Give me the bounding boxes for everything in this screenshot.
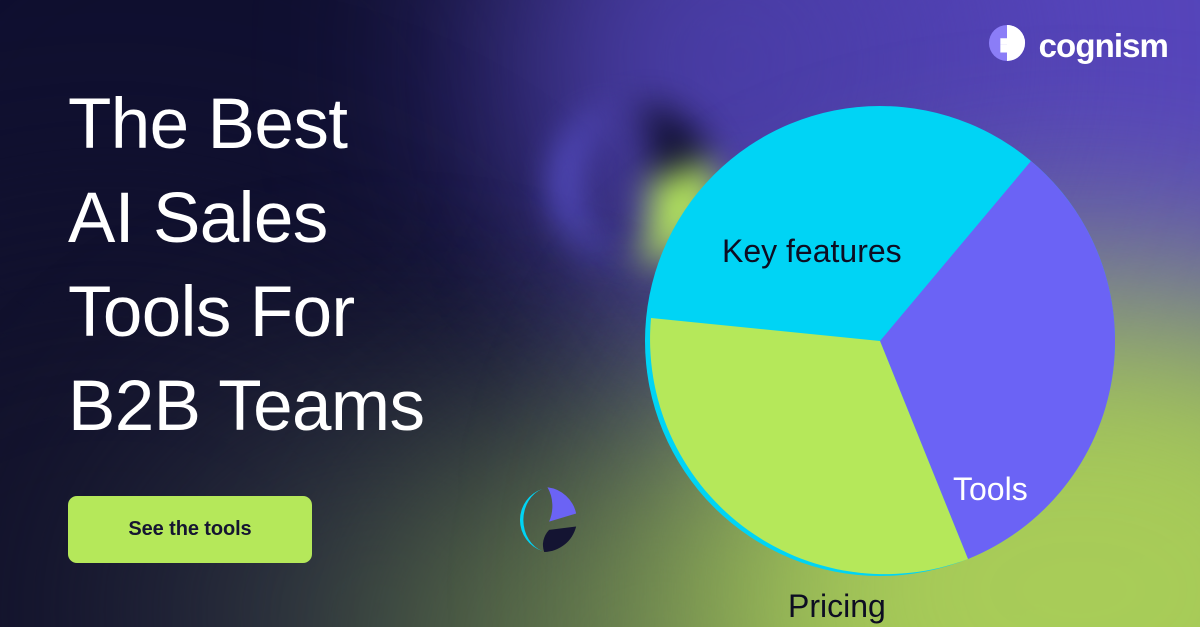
page-title: The Best AI Sales Tools For B2B Teams: [68, 78, 588, 454]
cognism-circle-mark-icon: [988, 24, 1026, 67]
see-the-tools-button[interactable]: See the tools: [68, 496, 312, 563]
pie-chart: Key features Tools Pricing: [645, 106, 1115, 576]
social-card: Key features Tools Pricing The Best AI S…: [0, 0, 1200, 627]
cognism-tri-segment-mark-icon: [504, 479, 586, 561]
cognism-logo[interactable]: cognism: [988, 24, 1168, 67]
cognism-wordmark: cognism: [1039, 29, 1168, 62]
